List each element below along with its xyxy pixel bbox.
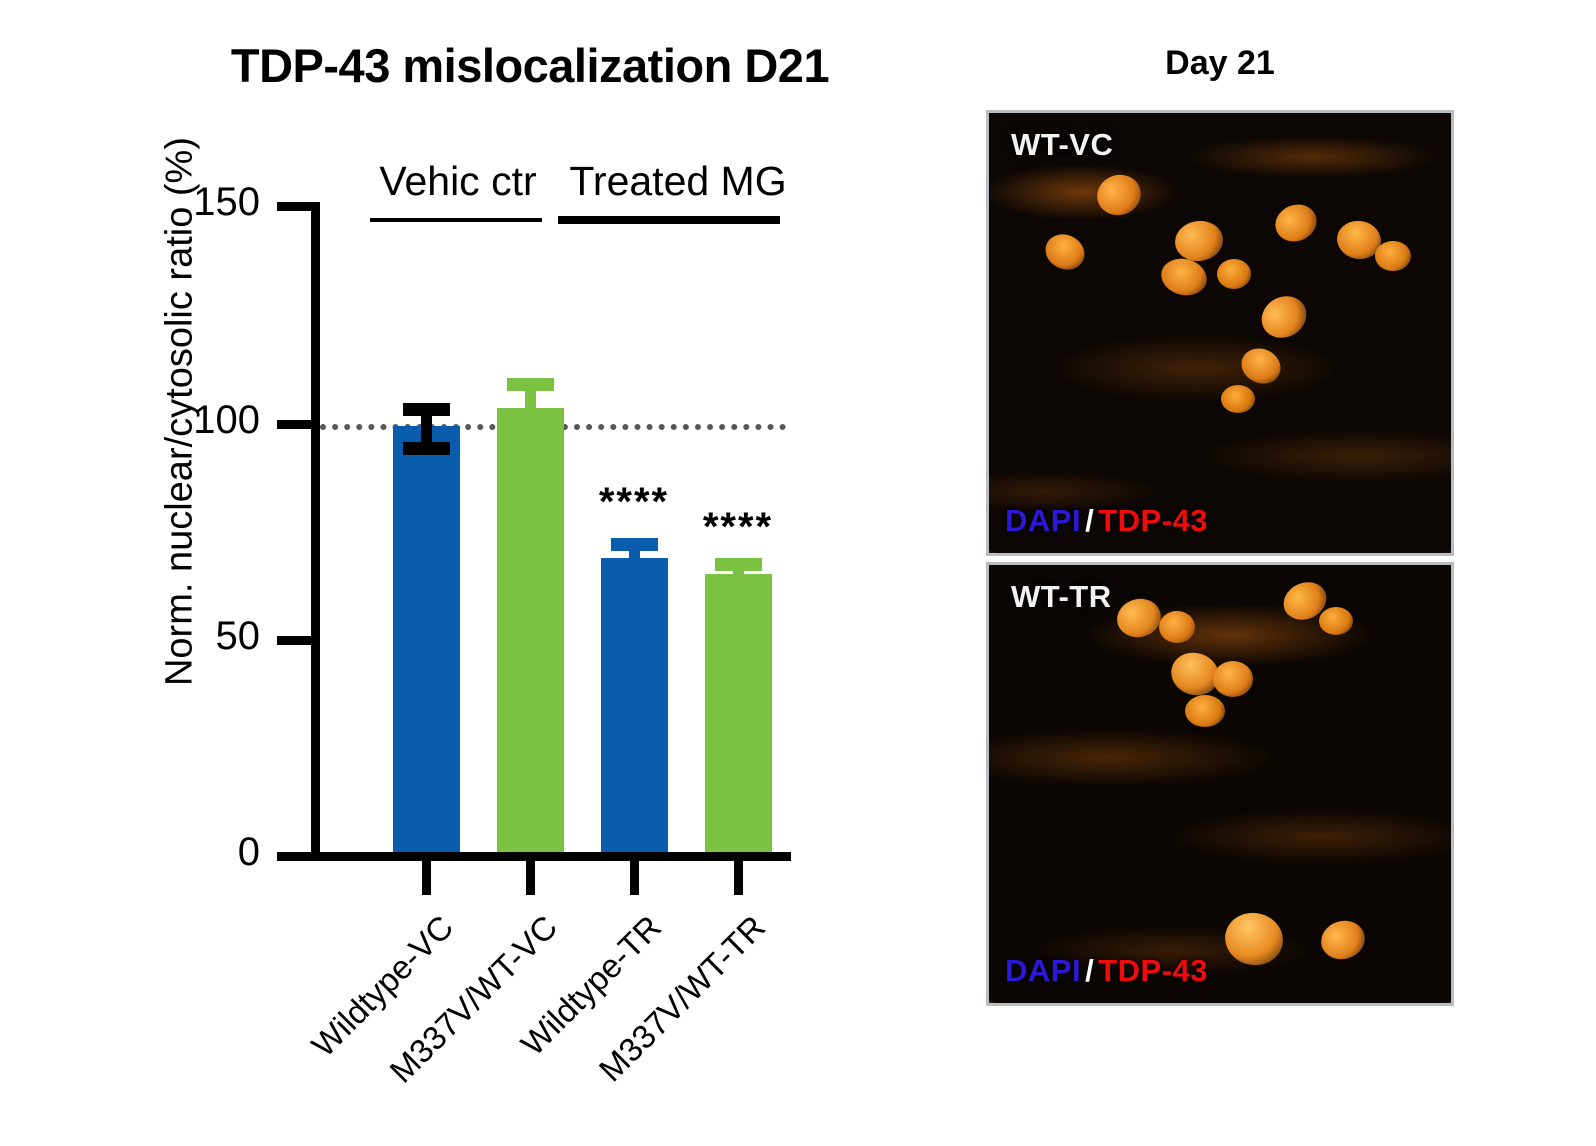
channel-label-dapi: DAPI	[1005, 503, 1081, 538]
micrograph-panel: Day 21 WT-VC DAPI/TDP-43	[960, 0, 1596, 1146]
cell-soma	[1213, 661, 1253, 697]
group-label-vehic-ctr: Vehic ctr	[348, 158, 568, 205]
significance-m337v-wt-tr: ****	[670, 505, 806, 550]
cell-soma	[1254, 288, 1314, 346]
micrograph-canvas-wt-tr: WT-TR DAPI/TDP-43	[989, 565, 1451, 1003]
cell-soma	[1040, 228, 1091, 276]
cell-soma	[1317, 916, 1370, 965]
x-tick-label-m337v-wt-tr: M337V/WT-TR	[569, 908, 773, 1112]
group-label-treated-mg: Treated MG	[548, 158, 808, 205]
bar-m337v-wt-tr[interactable]	[705, 574, 772, 852]
plot-area: 150 100 50 0	[0, 0, 960, 1146]
channel-separator: /	[1081, 953, 1098, 988]
cell-soma	[1172, 218, 1225, 264]
group-rule-treated-mg	[558, 216, 780, 224]
bars-layer	[0, 0, 960, 852]
micrograph-panel-title: Day 21	[960, 44, 1480, 83]
channel-legend-bottom: DAPI/TDP-43	[1005, 953, 1208, 989]
group-rule-vehic-ctr	[370, 218, 542, 222]
cell-soma	[1185, 695, 1225, 727]
channel-legend-top: DAPI/TDP-43	[1005, 503, 1208, 539]
micrograph-canvas-wt-vc: WT-VC DAPI/TDP-43	[989, 113, 1451, 553]
cell-soma	[1375, 241, 1411, 271]
error-bar-cap-m337v-wt-tr	[715, 558, 762, 571]
cell-soma	[1092, 169, 1146, 221]
cell-soma	[1221, 385, 1255, 413]
bar-wildtype-tr[interactable]	[601, 558, 668, 852]
micrograph-image-wt-tr[interactable]: WT-TR DAPI/TDP-43	[986, 562, 1454, 1006]
bar-m337v-wt-vc[interactable]	[497, 408, 564, 852]
cell-soma	[1319, 607, 1353, 635]
error-bar-cap-lower-wildtype-vc	[403, 442, 450, 455]
y-tick-mark-0	[277, 852, 319, 861]
micrograph-tag-wt-tr: WT-TR	[1011, 579, 1112, 615]
bar-wildtype-vc[interactable]	[393, 426, 460, 852]
micrograph-tag-wt-vc: WT-VC	[1011, 127, 1113, 163]
cell-soma	[1113, 594, 1165, 642]
error-bar-cap-wildtype-tr	[611, 538, 658, 551]
cell-soma	[1159, 611, 1195, 643]
channel-label-tdp43: TDP-43	[1098, 953, 1208, 988]
bar-chart-panel: TDP-43 mislocalization D21 Norm. nuclear…	[0, 0, 960, 1146]
x-tick-mark-1	[422, 861, 431, 895]
cell-soma	[1270, 198, 1322, 247]
channel-label-dapi: DAPI	[1005, 953, 1081, 988]
cell-soma	[1220, 908, 1288, 971]
error-bar-cap-upper-wildtype-vc	[403, 403, 450, 416]
x-tick-mark-3	[630, 861, 639, 895]
figure-root: TDP-43 mislocalization D21 Norm. nuclear…	[0, 0, 1596, 1146]
cell-soma	[1157, 254, 1210, 300]
cell-soma	[1236, 342, 1286, 389]
channel-separator: /	[1081, 503, 1098, 538]
x-tick-mark-4	[734, 861, 743, 895]
micrograph-image-wt-vc[interactable]: WT-VC DAPI/TDP-43	[986, 110, 1454, 556]
x-axis-line	[311, 852, 791, 861]
x-tick-label-m337v-wt-vc: M337V/WT-VC	[361, 908, 565, 1112]
error-bar-cap-m337v-wt-vc	[507, 378, 554, 391]
x-tick-mark-2	[526, 861, 535, 895]
cell-soma	[1217, 259, 1251, 289]
channel-label-tdp43: TDP-43	[1098, 503, 1208, 538]
